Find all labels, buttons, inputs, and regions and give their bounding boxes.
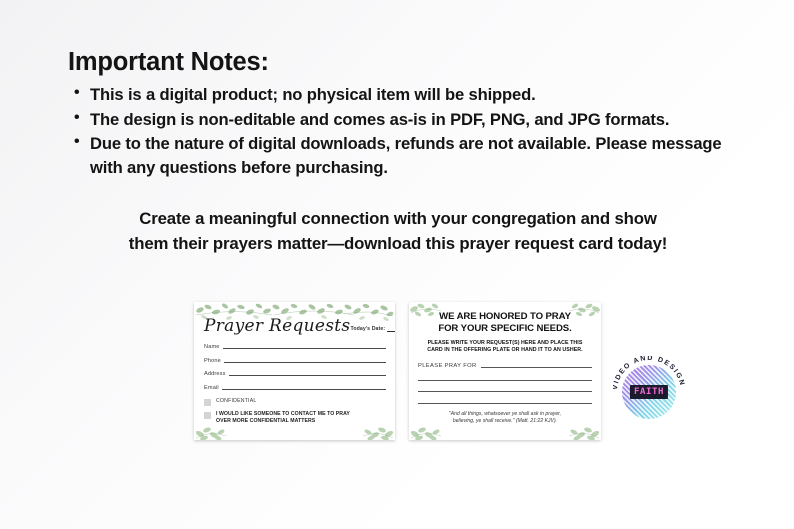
name-field-line xyxy=(223,347,386,349)
phone-field-line xyxy=(224,361,386,363)
notes-list: • This is a digital product; no physical… xyxy=(68,83,728,179)
list-item-text: The design is non-editable and comes as-… xyxy=(90,110,669,129)
back-heading-line-2: FOR YOUR SPECIFIC NEEDS. xyxy=(438,323,571,334)
prayer-request-card-front: Prayer Requests Today's Date: Name Phone xyxy=(194,302,395,440)
please-pray-for-line xyxy=(481,366,592,368)
address-field-line xyxy=(229,374,386,376)
cta-line-1: Create a meaningful connection with your… xyxy=(68,206,728,231)
call-to-action: Create a meaningful connection with your… xyxy=(68,206,728,256)
prayer-card-header: Prayer Requests Today's Date: xyxy=(204,311,386,335)
prayer-card-back-content: WE ARE HONORED TO PRAY FOR YOUR SPECIFIC… xyxy=(418,311,592,433)
checkbox-icon[interactable] xyxy=(204,412,211,419)
quote-line-2: believing, ye shall receive." (Matt. 21:… xyxy=(418,418,592,425)
prayer-card-content: Prayer Requests Today's Date: Name Phone xyxy=(204,311,386,432)
write-line[interactable] xyxy=(418,402,592,404)
contact-me-checkbox-row[interactable]: I WOULD LIKE SOMEONE TO CONTACT ME TO PR… xyxy=(204,411,386,425)
logo-ring-text: VIDEO AND DESIGN xyxy=(613,356,685,428)
list-item-text: Due to the nature of digital downloads, … xyxy=(90,134,721,177)
name-field[interactable]: Name xyxy=(204,344,386,350)
todays-date-line xyxy=(387,330,395,332)
confidential-checkbox-label: CONFIDENTIAL xyxy=(216,398,256,405)
email-field-line xyxy=(222,388,386,390)
list-item: • The design is non-editable and comes a… xyxy=(68,108,728,132)
please-pray-for-field[interactable]: PLEASE PRAY FOR xyxy=(418,363,592,369)
phone-field[interactable]: Phone xyxy=(204,358,386,364)
write-line[interactable] xyxy=(418,379,592,381)
todays-date-label: Today's Date: xyxy=(350,326,385,332)
bullet-icon: • xyxy=(74,131,79,154)
write-line[interactable] xyxy=(418,390,592,392)
page-root: Important Notes: • This is a digital pro… xyxy=(0,0,794,529)
notes-section: Important Notes: • This is a digital pro… xyxy=(68,48,728,256)
phone-field-label: Phone xyxy=(204,358,224,364)
bullet-icon: • xyxy=(74,107,79,130)
brand-logo: FAITH VIDEO AND DESIGN xyxy=(613,356,685,428)
back-heading-line-1: WE ARE HONORED TO PRAY xyxy=(439,311,571,322)
confidential-checkbox-row[interactable]: CONFIDENTIAL xyxy=(204,398,386,406)
back-sub-line-2: CARD IN THE OFFERING PLATE OR HAND IT TO… xyxy=(427,347,582,353)
contact-me-checkbox-label: I WOULD LIKE SOMEONE TO CONTACT ME TO PR… xyxy=(216,411,350,425)
address-field-label: Address xyxy=(204,371,229,377)
back-card-heading: WE ARE HONORED TO PRAY FOR YOUR SPECIFIC… xyxy=(418,311,592,335)
list-item: • Due to the nature of digital downloads… xyxy=(68,132,728,179)
cta-line-2: them their prayers matter—download this … xyxy=(68,231,728,256)
list-item-text: This is a digital product; no physical i… xyxy=(90,85,536,104)
contact-me-line-1: I WOULD LIKE SOMEONE TO CONTACT ME TO PR… xyxy=(216,411,350,417)
prayer-card-fields: Name Phone Address Email xyxy=(204,344,386,391)
name-field-label: Name xyxy=(204,344,223,350)
bullet-icon: • xyxy=(74,82,79,105)
quote-line-1: "And all things, whatsoever ye shall ask… xyxy=(418,411,592,418)
todays-date-field[interactable]: Today's Date: xyxy=(350,326,395,335)
please-pray-for-label: PLEASE PRAY FOR xyxy=(418,363,481,369)
page-title: Important Notes: xyxy=(68,48,728,77)
back-card-subheading: PLEASE WRITE YOUR REQUEST(S) HERE AND PL… xyxy=(418,340,592,354)
prayer-request-card-back: WE ARE HONORED TO PRAY FOR YOUR SPECIFIC… xyxy=(409,302,601,440)
contact-me-line-2: OVER MORE CONFIDENTIAL MATTERS xyxy=(216,418,315,424)
list-item: • This is a digital product; no physical… xyxy=(68,83,728,107)
email-field[interactable]: Email xyxy=(204,385,386,391)
email-field-label: Email xyxy=(204,385,222,391)
address-field[interactable]: Address xyxy=(204,371,386,377)
checkbox-icon[interactable] xyxy=(204,399,211,406)
back-sub-line-1: PLEASE WRITE YOUR REQUEST(S) HERE AND PL… xyxy=(428,340,583,346)
prayer-card-title: Prayer Requests xyxy=(204,318,350,335)
logo-ring-label: VIDEO AND DESIGN xyxy=(613,356,685,390)
scripture-quote: "And all things, whatsoever ye shall ask… xyxy=(418,411,592,426)
